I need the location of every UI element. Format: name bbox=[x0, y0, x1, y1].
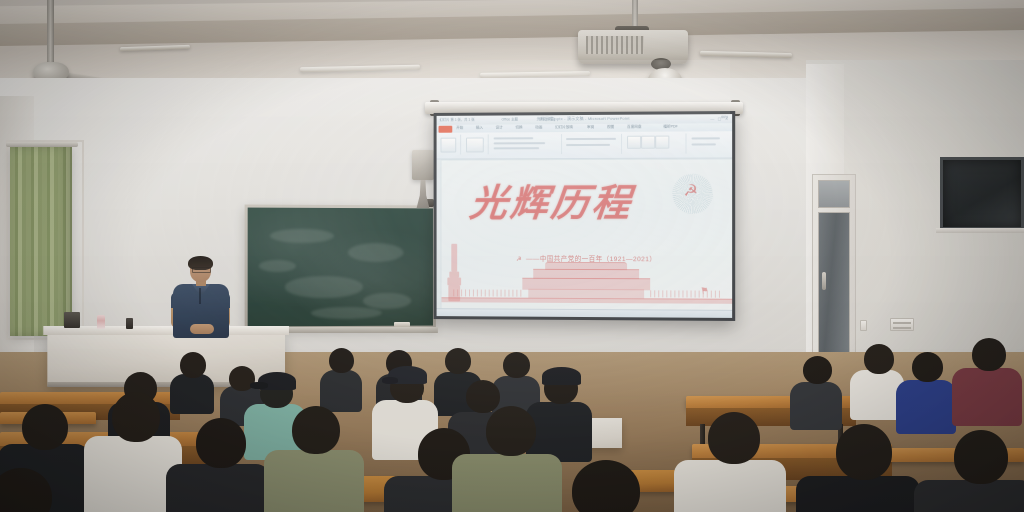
student-head bbox=[112, 392, 160, 442]
student-head bbox=[329, 348, 354, 373]
party-emblem: ☭ bbox=[672, 174, 712, 214]
ribbon-row bbox=[566, 144, 610, 146]
student-head bbox=[912, 352, 943, 382]
ribbon-row bbox=[692, 137, 720, 139]
ribbon-button[interactable] bbox=[466, 137, 484, 152]
projection-screen: 光辉历程.pptx - 演示文稿 - Microsoft PowerPoint … bbox=[434, 111, 736, 321]
student-head bbox=[180, 352, 206, 378]
light-switch-panel[interactable] bbox=[890, 318, 914, 331]
status-slide-count: 幻灯片 第 1 张，共 1 张 bbox=[440, 117, 475, 122]
slide-title: 光辉历程 bbox=[441, 184, 664, 222]
tab-file[interactable] bbox=[439, 125, 453, 132]
green-curtain bbox=[10, 146, 72, 336]
tab-baidu-netdisk[interactable]: 百度网盘 bbox=[627, 125, 641, 130]
dark-cup bbox=[126, 318, 133, 329]
ceiling-fan-rod bbox=[47, 0, 54, 66]
student-head bbox=[836, 424, 892, 480]
lecturer-hands bbox=[190, 324, 214, 334]
ribbon-row bbox=[494, 147, 540, 149]
ribbon-button[interactable] bbox=[627, 136, 641, 149]
student-head bbox=[445, 348, 471, 374]
classroom-door[interactable] bbox=[818, 212, 850, 370]
student-head bbox=[864, 344, 894, 374]
chalkboard-eraser bbox=[394, 322, 410, 327]
black-box-object bbox=[64, 312, 80, 328]
status-theme: Office 主题 bbox=[502, 116, 518, 121]
door-transom-window bbox=[818, 180, 850, 208]
tab-insert[interactable]: 插入 bbox=[476, 126, 483, 131]
student-head bbox=[954, 430, 1008, 484]
student-torso bbox=[952, 368, 1022, 426]
tab-view[interactable]: 视图 bbox=[607, 125, 614, 130]
student-torso bbox=[914, 480, 1024, 512]
student-head bbox=[22, 404, 68, 450]
student-torso bbox=[320, 370, 362, 412]
student-head bbox=[972, 338, 1006, 371]
student-head bbox=[503, 352, 530, 378]
tab-design[interactable]: 设计 bbox=[496, 125, 503, 130]
door-handle[interactable] bbox=[822, 272, 826, 290]
student-torso bbox=[166, 464, 270, 512]
cap-brim bbox=[250, 382, 268, 389]
ribbon-row bbox=[494, 137, 534, 139]
student-torso bbox=[170, 374, 214, 414]
ribbon-button[interactable] bbox=[440, 138, 456, 153]
lecturer-shirt-placket bbox=[199, 288, 201, 304]
ribbon-button[interactable] bbox=[655, 136, 669, 149]
student-torso bbox=[790, 382, 842, 430]
wall-speaker bbox=[412, 150, 434, 180]
tab-home[interactable]: 开始 bbox=[456, 126, 463, 131]
student-torso bbox=[796, 476, 920, 512]
student-head bbox=[292, 406, 340, 454]
hammer-sickle-icon: ☭ bbox=[683, 184, 698, 200]
student-head bbox=[466, 380, 500, 413]
ribbon-button[interactable] bbox=[641, 136, 655, 149]
slide-canvas[interactable]: ☭ 光辉历程 ☭ ——中国共产党的一百年（1921—2021） bbox=[441, 159, 732, 310]
lecturer bbox=[170, 258, 232, 344]
tab-transitions[interactable]: 切换 bbox=[515, 125, 522, 130]
student-head bbox=[486, 406, 536, 456]
powerpoint-status-bar bbox=[437, 308, 733, 318]
minimize-button[interactable]: — bbox=[710, 116, 715, 121]
student-head bbox=[196, 418, 246, 468]
window-sill bbox=[936, 228, 1024, 233]
cap-brim bbox=[382, 377, 398, 384]
tab-review[interactable]: 审阅 bbox=[587, 125, 594, 130]
student-head bbox=[803, 356, 832, 384]
tiananmen-illustration bbox=[441, 260, 732, 305]
student-torso bbox=[452, 454, 562, 512]
water-bottle bbox=[97, 315, 105, 329]
projection-screen-surface: 光辉历程.pptx - 演示文稿 - Microsoft PowerPoint … bbox=[437, 114, 733, 318]
ceiling-light-glow bbox=[480, 74, 590, 77]
ceiling-light-glow bbox=[300, 68, 420, 71]
student-torso bbox=[674, 460, 786, 512]
tab-animations[interactable]: 动画 bbox=[535, 125, 542, 130]
chalkboard-surface bbox=[248, 208, 433, 327]
status-zoom-level[interactable]: 66% bbox=[721, 115, 728, 119]
glasses-icon bbox=[192, 267, 211, 273]
tab-slideshow[interactable]: 幻灯片放映 bbox=[555, 125, 573, 130]
chalkboard-frame bbox=[245, 205, 436, 330]
podium-top-surface bbox=[43, 326, 289, 335]
ribbon-row bbox=[566, 138, 616, 140]
ribbon-row bbox=[692, 143, 716, 145]
baseball-cap bbox=[542, 367, 581, 385]
student-head bbox=[708, 412, 760, 464]
ribbon-row bbox=[494, 142, 546, 144]
tab-foxit-pdf[interactable]: 福昕PDF bbox=[663, 124, 678, 129]
classroom-photo: 光辉历程.pptx - 演示文稿 - Microsoft PowerPoint … bbox=[0, 0, 1024, 512]
student-torso bbox=[264, 450, 364, 512]
wall-outlet[interactable] bbox=[860, 320, 867, 331]
curtain-rod bbox=[6, 142, 78, 147]
status-language: 中文(中国) bbox=[539, 116, 555, 121]
side-window bbox=[940, 157, 1024, 230]
projector-vents bbox=[586, 36, 644, 54]
student-torso bbox=[896, 380, 956, 434]
